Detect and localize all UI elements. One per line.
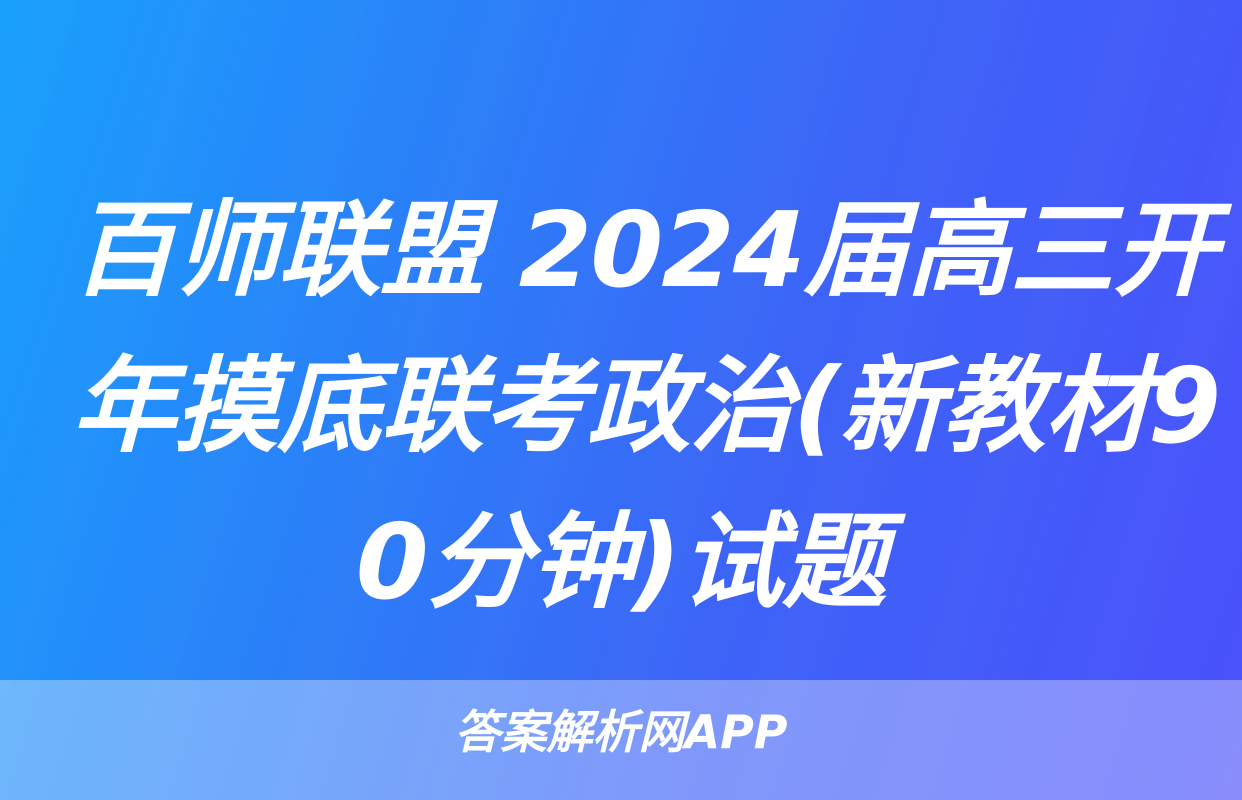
title-line-2: 年摸底联考政治(新教材9 [71,328,1172,484]
title-line-1: 百师联盟 2024届高三开 [71,172,1172,328]
exam-paper-cover-poster: 百师联盟 2024届高三开 年摸底联考政治(新教材9 0分钟)试题 答案解析网A… [0,0,1242,800]
app-watermark: 答案解析网APP [0,704,1242,760]
title-line-3: 0分钟)试题 [71,484,1172,640]
page-title: 百师联盟 2024届高三开 年摸底联考政治(新教材9 0分钟)试题 [0,172,1242,640]
